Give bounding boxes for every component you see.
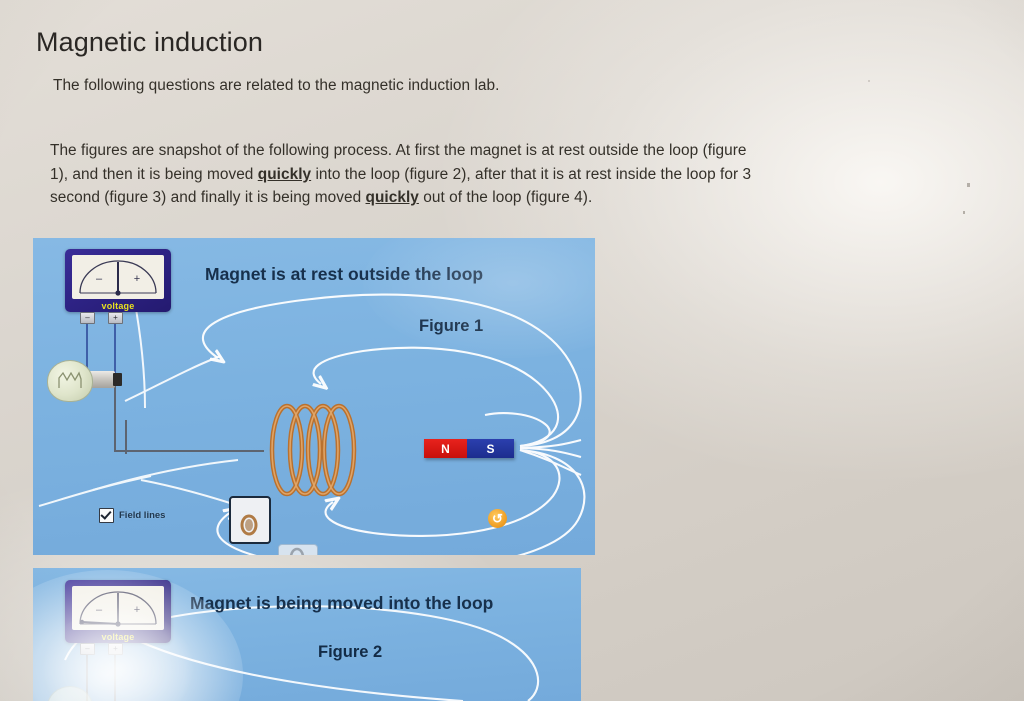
voltmeter-gauge-2: – + bbox=[72, 586, 164, 630]
voltmeter-label-2: voltage bbox=[65, 632, 171, 642]
figure-2-caption: Magnet is being moved into the loop bbox=[190, 593, 493, 614]
figure-1-label: Figure 1 bbox=[419, 317, 483, 336]
field-lines-checkbox[interactable] bbox=[99, 508, 114, 523]
figure-2-simulation-panel[interactable]: Magnet is being moved into the loop Figu… bbox=[33, 568, 581, 701]
induction-coil[interactable] bbox=[259, 396, 359, 504]
reset-button[interactable]: ↺ bbox=[488, 509, 507, 528]
light-bulb-2[interactable] bbox=[47, 686, 93, 701]
field-lines-label: Field lines bbox=[119, 510, 165, 521]
bar-magnet[interactable]: N S bbox=[424, 439, 514, 458]
magnet-north-pole: N bbox=[424, 439, 467, 458]
coil-option-single-button[interactable] bbox=[229, 496, 271, 544]
voltmeter-figure-2[interactable]: – + voltage – + bbox=[65, 580, 171, 643]
intro-text: The following questions are related to t… bbox=[53, 77, 499, 95]
coil-double-icon bbox=[280, 546, 314, 555]
figure-2-label: Figure 2 bbox=[318, 643, 382, 662]
voltmeter-face: – + bbox=[72, 255, 164, 299]
voltmeter-face-2: – + bbox=[72, 586, 164, 630]
figure-1-simulation-panel[interactable]: Magnet is at rest outside the loop Figur… bbox=[33, 238, 595, 555]
voltmeter-body: – + voltage bbox=[65, 249, 171, 312]
emphasis-quickly-1: quickly bbox=[258, 166, 311, 183]
voltmeter-gauge: – + bbox=[72, 255, 164, 299]
process-text-part3: out of the loop (figure 4). bbox=[419, 189, 592, 206]
paper-speck bbox=[963, 211, 965, 214]
figure-1-caption: Magnet is at rest outside the loop bbox=[205, 264, 483, 285]
emphasis-quickly-2: quickly bbox=[366, 189, 419, 206]
voltmeter-body-2: – + voltage bbox=[65, 580, 171, 643]
bulb-glass-2 bbox=[47, 686, 93, 701]
bulb-cap bbox=[113, 373, 122, 386]
bulb-glass bbox=[47, 360, 93, 402]
wire-right-vertical bbox=[114, 378, 116, 452]
voltmeter-terminal-negative[interactable]: – bbox=[80, 312, 95, 324]
svg-text:–: – bbox=[96, 273, 103, 285]
paper-speck bbox=[967, 183, 970, 187]
magnet-south-pole: S bbox=[467, 439, 514, 458]
svg-text:–: – bbox=[96, 604, 103, 616]
bulb-filament bbox=[57, 370, 83, 390]
process-description: The figures are snapshot of the followin… bbox=[50, 139, 762, 210]
voltmeter-terminal-negative-2[interactable]: – bbox=[80, 643, 95, 655]
wire-coil-feed bbox=[125, 420, 127, 454]
coil-single-icon bbox=[232, 499, 266, 539]
voltmeter-label: voltage bbox=[65, 301, 171, 311]
field-lines-checkbox-control[interactable]: Field lines bbox=[99, 508, 165, 523]
light-bulb[interactable] bbox=[47, 360, 93, 402]
paper-speck bbox=[868, 80, 870, 82]
coil-option-double-button[interactable] bbox=[278, 544, 318, 555]
svg-text:+: + bbox=[134, 273, 140, 285]
page-title: Magnetic induction bbox=[36, 27, 263, 58]
voltmeter-terminal-positive-2[interactable]: + bbox=[108, 643, 123, 655]
voltmeter-terminal-positive[interactable]: + bbox=[108, 312, 123, 324]
voltmeter-figure-1[interactable]: – + voltage – + bbox=[65, 249, 171, 312]
svg-text:+: + bbox=[134, 604, 140, 616]
wire-bottom-horizontal bbox=[114, 450, 264, 452]
